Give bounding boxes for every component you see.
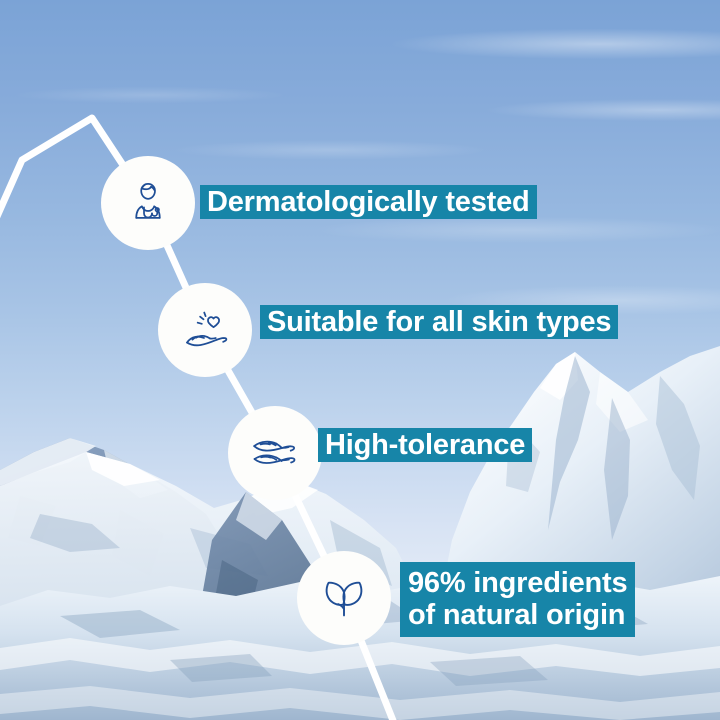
- benefit-badge-suitable-for-all-skin-types[interactable]: [158, 283, 252, 377]
- two-hands-icon: [245, 423, 305, 483]
- benefit-badge-natural-origin-ingredients[interactable]: [297, 551, 391, 645]
- benefit-banner-natural-origin-ingredients: 96% ingredients of natural origin: [400, 562, 635, 637]
- benefit-badge-dermatologically-tested[interactable]: [101, 156, 195, 250]
- benefit-banner-dermatologically-tested: Dermatologically tested: [200, 185, 537, 219]
- benefit-text-line-2: of natural origin: [408, 599, 625, 631]
- benefit-banner-high-tolerance: High-tolerance: [318, 428, 532, 462]
- benefit-text-line-1: 96% ingredients: [408, 567, 627, 599]
- doctor-icon: [119, 174, 177, 232]
- benefit-badge-high-tolerance[interactable]: [228, 406, 322, 500]
- leaf-sprout-icon: [315, 569, 373, 627]
- benefit-banner-suitable-for-all-skin-types: Suitable for all skin types: [260, 305, 618, 339]
- benefit-text: Suitable for all skin types: [267, 305, 611, 339]
- benefit-text: High-tolerance: [325, 428, 525, 462]
- benefit-text: Dermatologically tested: [207, 185, 530, 219]
- hand-heart-icon: [175, 300, 235, 360]
- infographic-canvas: Dermatologically tested Suitable for all…: [0, 0, 720, 720]
